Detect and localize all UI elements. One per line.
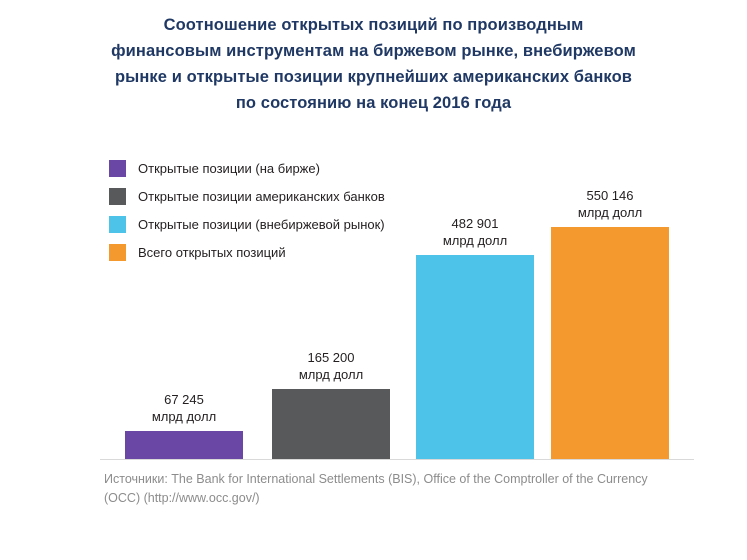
bar-value-number-2: 165 200 — [272, 349, 390, 366]
bar-value-us-banks-positions: 165 200 млрд долл — [272, 349, 390, 383]
source-note: Источники: The Bank for International Se… — [104, 470, 704, 508]
bar-us-banks-positions — [272, 389, 390, 459]
bar-value-number-3: 482 901 — [416, 215, 534, 232]
bar-otc-positions — [416, 255, 534, 459]
bar-value-unit-4: млрд долл — [551, 204, 669, 221]
bar-value-otc-positions: 482 901 млрд долл — [416, 215, 534, 249]
bar-total-positions — [551, 227, 669, 459]
bar-value-unit-3: млрд долл — [416, 232, 534, 249]
bar-value-unit-2: млрд долл — [272, 366, 390, 383]
source-note-line-1: Источники: The Bank for International Se… — [104, 470, 704, 489]
bar-value-unit-1: млрд долл — [125, 408, 243, 425]
chart-baseline — [100, 459, 694, 460]
bar-value-number-4: 550 146 — [551, 187, 669, 204]
bar-value-number-1: 67 245 — [125, 391, 243, 408]
bar-value-total-positions: 550 146 млрд долл — [551, 187, 669, 221]
source-note-line-2: (OCC) (http://www.occ.gov/) — [104, 489, 704, 508]
bar-value-exchange-positions: 67 245 млрд долл — [125, 391, 243, 425]
bar-exchange-positions — [125, 431, 243, 459]
